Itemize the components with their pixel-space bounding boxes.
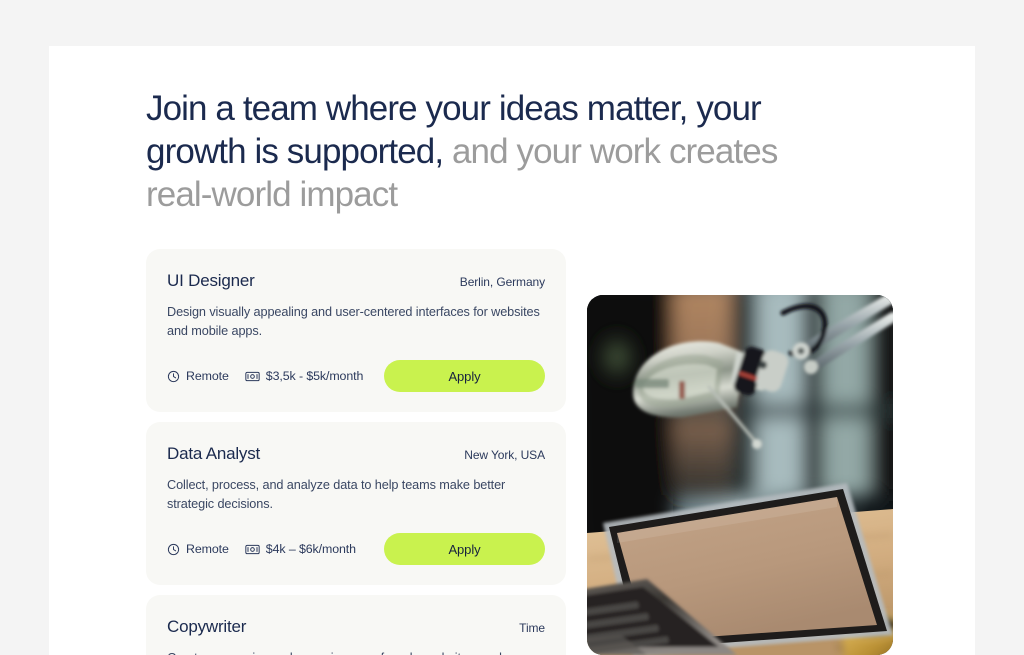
page-root: Join a team where your ideas matter, you… xyxy=(0,0,1024,655)
job-title: UI Designer xyxy=(167,271,255,291)
job-card[interactable]: Data Analyst New York, USA Collect, proc… xyxy=(146,422,566,585)
clock-icon xyxy=(167,543,180,556)
apply-button[interactable]: Apply xyxy=(384,533,545,565)
job-schedule-label: Remote xyxy=(186,369,229,383)
job-title: Data Analyst xyxy=(167,444,260,464)
job-description: Collect, process, and analyze data to he… xyxy=(167,476,545,514)
job-description: Create persuasive and engaging copy for … xyxy=(167,649,545,655)
job-schedule: Remote xyxy=(167,542,229,556)
banknote-icon xyxy=(245,370,260,383)
jobs-and-photo-grid: UI Designer Berlin, Germany Design visua… xyxy=(146,249,938,655)
clock-icon xyxy=(167,370,180,383)
job-title: Copywriter xyxy=(167,617,246,637)
job-salary: $3,5k - $5k/month xyxy=(245,369,363,383)
job-description: Design visually appealing and user-cente… xyxy=(167,303,545,341)
job-card-header: UI Designer Berlin, Germany xyxy=(167,271,545,291)
job-schedule: Remote xyxy=(167,369,229,383)
banknote-icon xyxy=(245,543,260,556)
job-card[interactable]: UI Designer Berlin, Germany Design visua… xyxy=(146,249,566,412)
job-card-header: Copywriter Time xyxy=(167,617,545,637)
job-list: UI Designer Berlin, Germany Design visua… xyxy=(146,249,566,655)
page-headline: Join a team where your ideas matter, you… xyxy=(146,87,846,216)
job-card-header: Data Analyst New York, USA xyxy=(167,444,545,464)
job-location: New York, USA xyxy=(464,448,545,462)
photo-column xyxy=(587,249,893,655)
content-panel: Join a team where your ideas matter, you… xyxy=(49,46,975,655)
job-location: Time xyxy=(519,621,545,635)
job-salary-label: $4k – $6k/month xyxy=(266,542,356,556)
job-salary-label: $3,5k - $5k/month xyxy=(266,369,363,383)
job-card[interactable]: Copywriter Time Create persuasive and en… xyxy=(146,595,566,655)
job-schedule-label: Remote xyxy=(186,542,229,556)
apply-button[interactable]: Apply xyxy=(384,360,545,392)
job-salary: $4k – $6k/month xyxy=(245,542,356,556)
desk-lamp-and-laptop-photo xyxy=(587,295,893,655)
job-location: Berlin, Germany xyxy=(460,275,545,289)
